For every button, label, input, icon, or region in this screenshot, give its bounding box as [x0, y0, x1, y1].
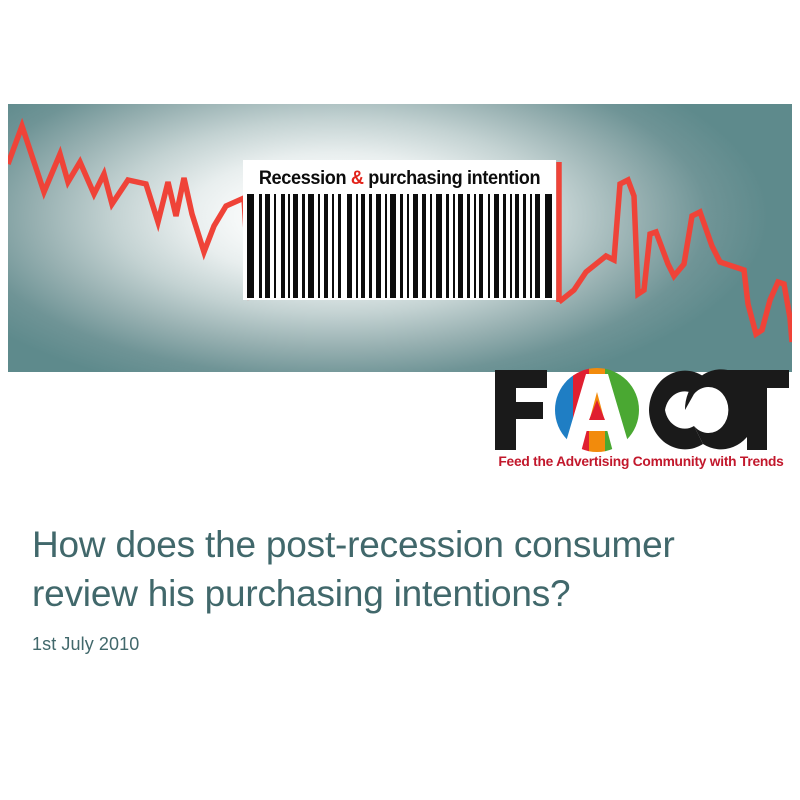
- fact-logo-mark: [489, 366, 793, 454]
- trend-line-left: [8, 126, 250, 300]
- barcode-bars: [243, 194, 556, 298]
- logo-letter-f: [495, 370, 547, 450]
- title-block: How does the post-recession consumer rev…: [32, 520, 762, 655]
- barcode-graphic: Recession & purchasing intention: [243, 160, 556, 300]
- barcode-caption-suffix: purchasing intention: [364, 167, 541, 189]
- fact-logo-tagline: Feed the Advertising Community with Tren…: [494, 454, 789, 470]
- page-title-line-1: How does the post-recession consumer: [32, 524, 675, 565]
- slide-date: 1st July 2010: [32, 633, 762, 655]
- page-title: How does the post-recession consumer rev…: [32, 520, 762, 618]
- trend-line-right: [559, 180, 792, 342]
- logo-letter-a-mark: [555, 368, 639, 452]
- barcode-caption-prefix: Recession: [259, 167, 351, 189]
- hero-banner: Recession & purchasing intention: [8, 104, 792, 372]
- barcode-caption: Recession & purchasing intention: [254, 164, 545, 194]
- page-title-line-2: review his purchasing intentions?: [32, 573, 570, 614]
- barcode-caption-ampersand: &: [351, 167, 364, 189]
- fact-logo: Feed the Advertising Community with Tren…: [489, 366, 793, 478]
